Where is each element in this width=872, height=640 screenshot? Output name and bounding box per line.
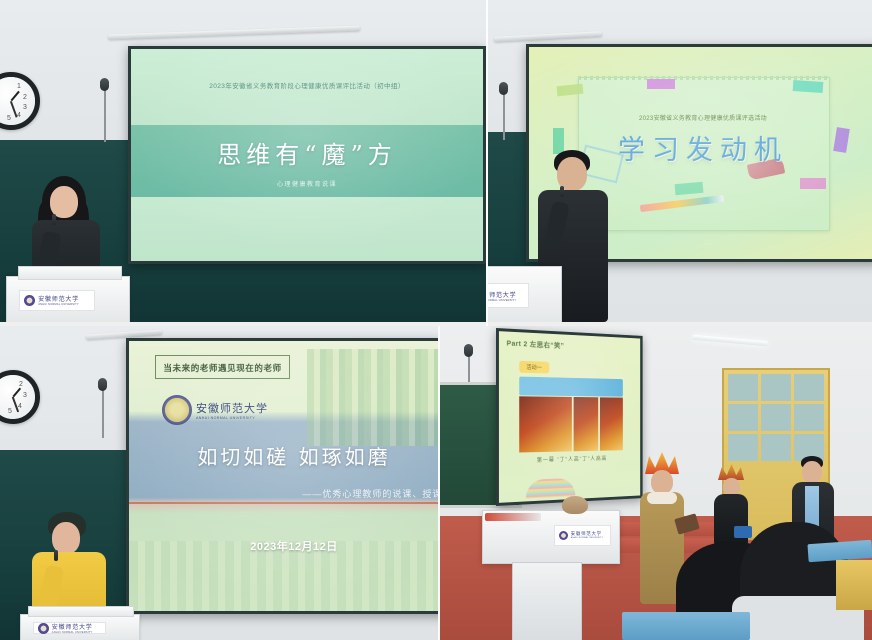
door-pane xyxy=(761,404,791,431)
slide-1-subtitle: 心理健康教育说课 xyxy=(277,179,337,188)
university-name-block: 安徽师范大学 ANHUI NORMAL UNIVERSITY xyxy=(571,531,603,539)
plush-toy xyxy=(562,496,588,514)
dark-coat xyxy=(714,494,748,546)
door-pane xyxy=(794,404,824,431)
student-chair xyxy=(836,560,872,610)
projector-screen-3: 当未来的老师遇见现在的老师 安徽师范大学 ANHUI NORMAL UNIVER… xyxy=(126,338,438,614)
slide-4: Part 2 左思右“笑” 活动一 第一幕 “丁”人高“丁”人高高 xyxy=(499,331,640,503)
slide-3-header: 当未来的老师遇见现在的老师 xyxy=(163,363,281,373)
slide-3-date: 2023年12月12日 xyxy=(129,538,438,554)
university-seal-icon xyxy=(162,395,192,425)
slide-4-blue-band xyxy=(519,376,623,396)
ceiling-mic-icon xyxy=(100,78,109,91)
university-name-cn: 安徽师范大学 xyxy=(196,400,268,416)
slide-3: 当未来的老师遇见现在的老师 安徽师范大学 ANHUI NORMAL UNIVER… xyxy=(129,341,438,611)
console-cabinet xyxy=(512,562,582,640)
panel-top-left: 1 2 3 4 5 2023年安徽省义务教育阶段心理健康优质课评比活动（初中组）… xyxy=(0,0,486,322)
university-name-en: ANHUI NORMAL UNIVERSITY xyxy=(488,299,516,302)
door-pane xyxy=(728,374,758,401)
university-name-block: 安徽师范大学 ANHUI NORMAL UNIVERSITY xyxy=(196,400,268,420)
door-window-grid xyxy=(728,374,824,461)
slide-4-image-row xyxy=(519,397,623,453)
slide-4-image-1 xyxy=(519,397,572,453)
student-desk-1 xyxy=(622,612,750,640)
handheld-mic-icon xyxy=(54,550,58,561)
collage-divider-horizontal xyxy=(0,322,872,326)
photo-collage: 1 2 3 4 5 2023年安徽省义务教育阶段心理健康优质课评比活动（初中组）… xyxy=(0,0,872,640)
tape-mint xyxy=(675,181,704,194)
slide-1-header: 2023年安徽省义务教育阶段心理健康优质课评比活动（初中组） xyxy=(209,80,404,90)
mic-stand xyxy=(104,84,106,142)
slide-4-caption: 第一幕 “丁”人高“丁”人高高 xyxy=(499,453,640,464)
slide-3-header-box: 当未来的老师遇见现在的老师 xyxy=(155,355,289,379)
slide-1-bottom-band xyxy=(131,197,483,261)
university-name-block: 安徽师范大学 ANHUI NORMAL UNIVERSITY xyxy=(488,290,516,302)
slide-3-logo: 安徽师范大学 ANHUI NORMAL UNIVERSITY xyxy=(162,395,268,425)
collage-divider-vertical-top xyxy=(486,0,488,326)
slide-3-city-illustration xyxy=(307,349,438,446)
clock-numerals: 2 3 4 5 xyxy=(0,375,35,419)
clock-numerals: 1 2 3 4 5 xyxy=(0,77,35,125)
console-plate: 安徽师范大学 ANHUI NORMAL UNIVERSITY xyxy=(554,525,611,547)
lectern-top-edge xyxy=(18,266,122,280)
ceiling-mic-icon xyxy=(499,82,508,95)
panel-bottom-right: Part 2 左思右“笑” 活动一 第一幕 “丁”人高“丁”人高高 xyxy=(440,326,872,640)
lectern-plate-2: 安徽师范大学 ANHUI NORMAL UNIVERSITY xyxy=(488,283,529,309)
tape-pink xyxy=(800,178,826,189)
university-name-en: ANHUI NORMAL UNIVERSITY xyxy=(52,631,93,634)
university-name-en: ANHUI NORMAL UNIVERSITY xyxy=(571,537,603,539)
console-red-trim xyxy=(485,513,541,521)
door-pane xyxy=(794,374,824,401)
face xyxy=(802,461,822,483)
door-pane xyxy=(761,374,791,401)
slide-3-subtitle: ——优秀心理教师的说课、授课与 xyxy=(302,487,438,500)
handheld-mic-icon xyxy=(560,186,564,197)
university-name-block: 安徽师范大学 ANHUI NORMAL UNIVERSITY xyxy=(38,294,79,306)
slide-1-title: 思维有“魔”方 xyxy=(217,135,397,170)
university-name-en: ANHUI NORMAL UNIVERSITY xyxy=(38,303,79,306)
slide-1-top-band: 2023年安徽省义务教育阶段心理健康优质课评比活动（初中组） xyxy=(131,49,483,125)
door-pane xyxy=(761,434,791,461)
slide-4-badge: 活动一 xyxy=(519,361,549,374)
slide-3-title: 如切如磋 如琢如磨 xyxy=(129,441,438,470)
slide-4-part-label: Part 2 左思右“笑” xyxy=(507,338,565,350)
lectern-top-edge xyxy=(28,606,134,617)
ceiling-mic-icon xyxy=(98,378,107,391)
handheld-mic-icon xyxy=(52,214,56,225)
university-name-block: 安徽师范大学 ANHUI NORMAL UNIVERSITY xyxy=(52,622,93,634)
slide-4-image-3 xyxy=(600,398,623,451)
fur-collar xyxy=(647,492,677,504)
slide-2-header: 2023安徽省义务教育心理健康优质课评选活动 xyxy=(529,113,872,122)
projector-screen-4: Part 2 左思右“笑” 活动一 第一幕 “丁”人高“丁”人高高 xyxy=(496,328,643,506)
university-seal-icon xyxy=(24,295,35,306)
university-seal-icon xyxy=(38,623,49,634)
university-name-cn: 安徽师范大学 xyxy=(52,622,93,631)
face xyxy=(651,470,673,494)
collage-divider-vertical-bottom xyxy=(438,326,440,640)
lectern-3: 安徽师范大学 ANHUI NORMAL UNIVERSITY xyxy=(20,614,140,640)
door-pane xyxy=(728,434,758,461)
slide-1-mid-band: 思维有“魔”方 心理健康教育说课 xyxy=(131,125,483,197)
panel-top-right: 2023安徽省义务教育心理健康优质课评选活动 学习发动机 安徽师范大学 ANHU… xyxy=(488,0,872,322)
lectern-plate-3: 安徽师范大学 ANHUI NORMAL UNIVERSITY xyxy=(33,622,106,634)
ceiling-mic-icon xyxy=(464,344,473,357)
lectern-plate-1: 安徽师范大学 ANHUI NORMAL UNIVERSITY xyxy=(19,290,95,311)
slide-1: 2023年安徽省义务教育阶段心理健康优质课评比活动（初中组） 思维有“魔”方 心… xyxy=(131,49,483,261)
university-name-cn: 安徽师范大学 xyxy=(488,290,516,299)
teacher-console: 安徽师范大学 ANHUI NORMAL UNIVERSITY xyxy=(482,510,620,564)
university-name-en: ANHUI NORMAL UNIVERSITY xyxy=(196,416,268,420)
slide-3-divider xyxy=(129,502,438,504)
participant-with-crown xyxy=(714,466,748,546)
tape-purple xyxy=(647,79,675,89)
projector-screen-1: 2023年安徽省义务教育阶段心理健康优质课评比活动（初中组） 思维有“魔”方 心… xyxy=(128,46,486,264)
tape-teal xyxy=(793,80,824,93)
mic-stand xyxy=(503,92,505,140)
university-seal-icon xyxy=(559,531,568,540)
lectern-1: 安徽师范大学 ANHUI NORMAL UNIVERSITY xyxy=(6,276,130,322)
rainbow-icon xyxy=(526,478,575,498)
panel-bottom-left: 2 3 4 5 当未来的老师遇见现在的老师 xyxy=(0,326,438,640)
slide-2-perforation xyxy=(578,76,829,80)
door-pane xyxy=(728,404,758,431)
lectern-2: 安徽师范大学 ANHUI NORMAL UNIVERSITY xyxy=(488,266,562,322)
mic-stand xyxy=(102,388,104,438)
slide-4-image-2 xyxy=(574,397,598,451)
held-bag xyxy=(734,526,752,538)
